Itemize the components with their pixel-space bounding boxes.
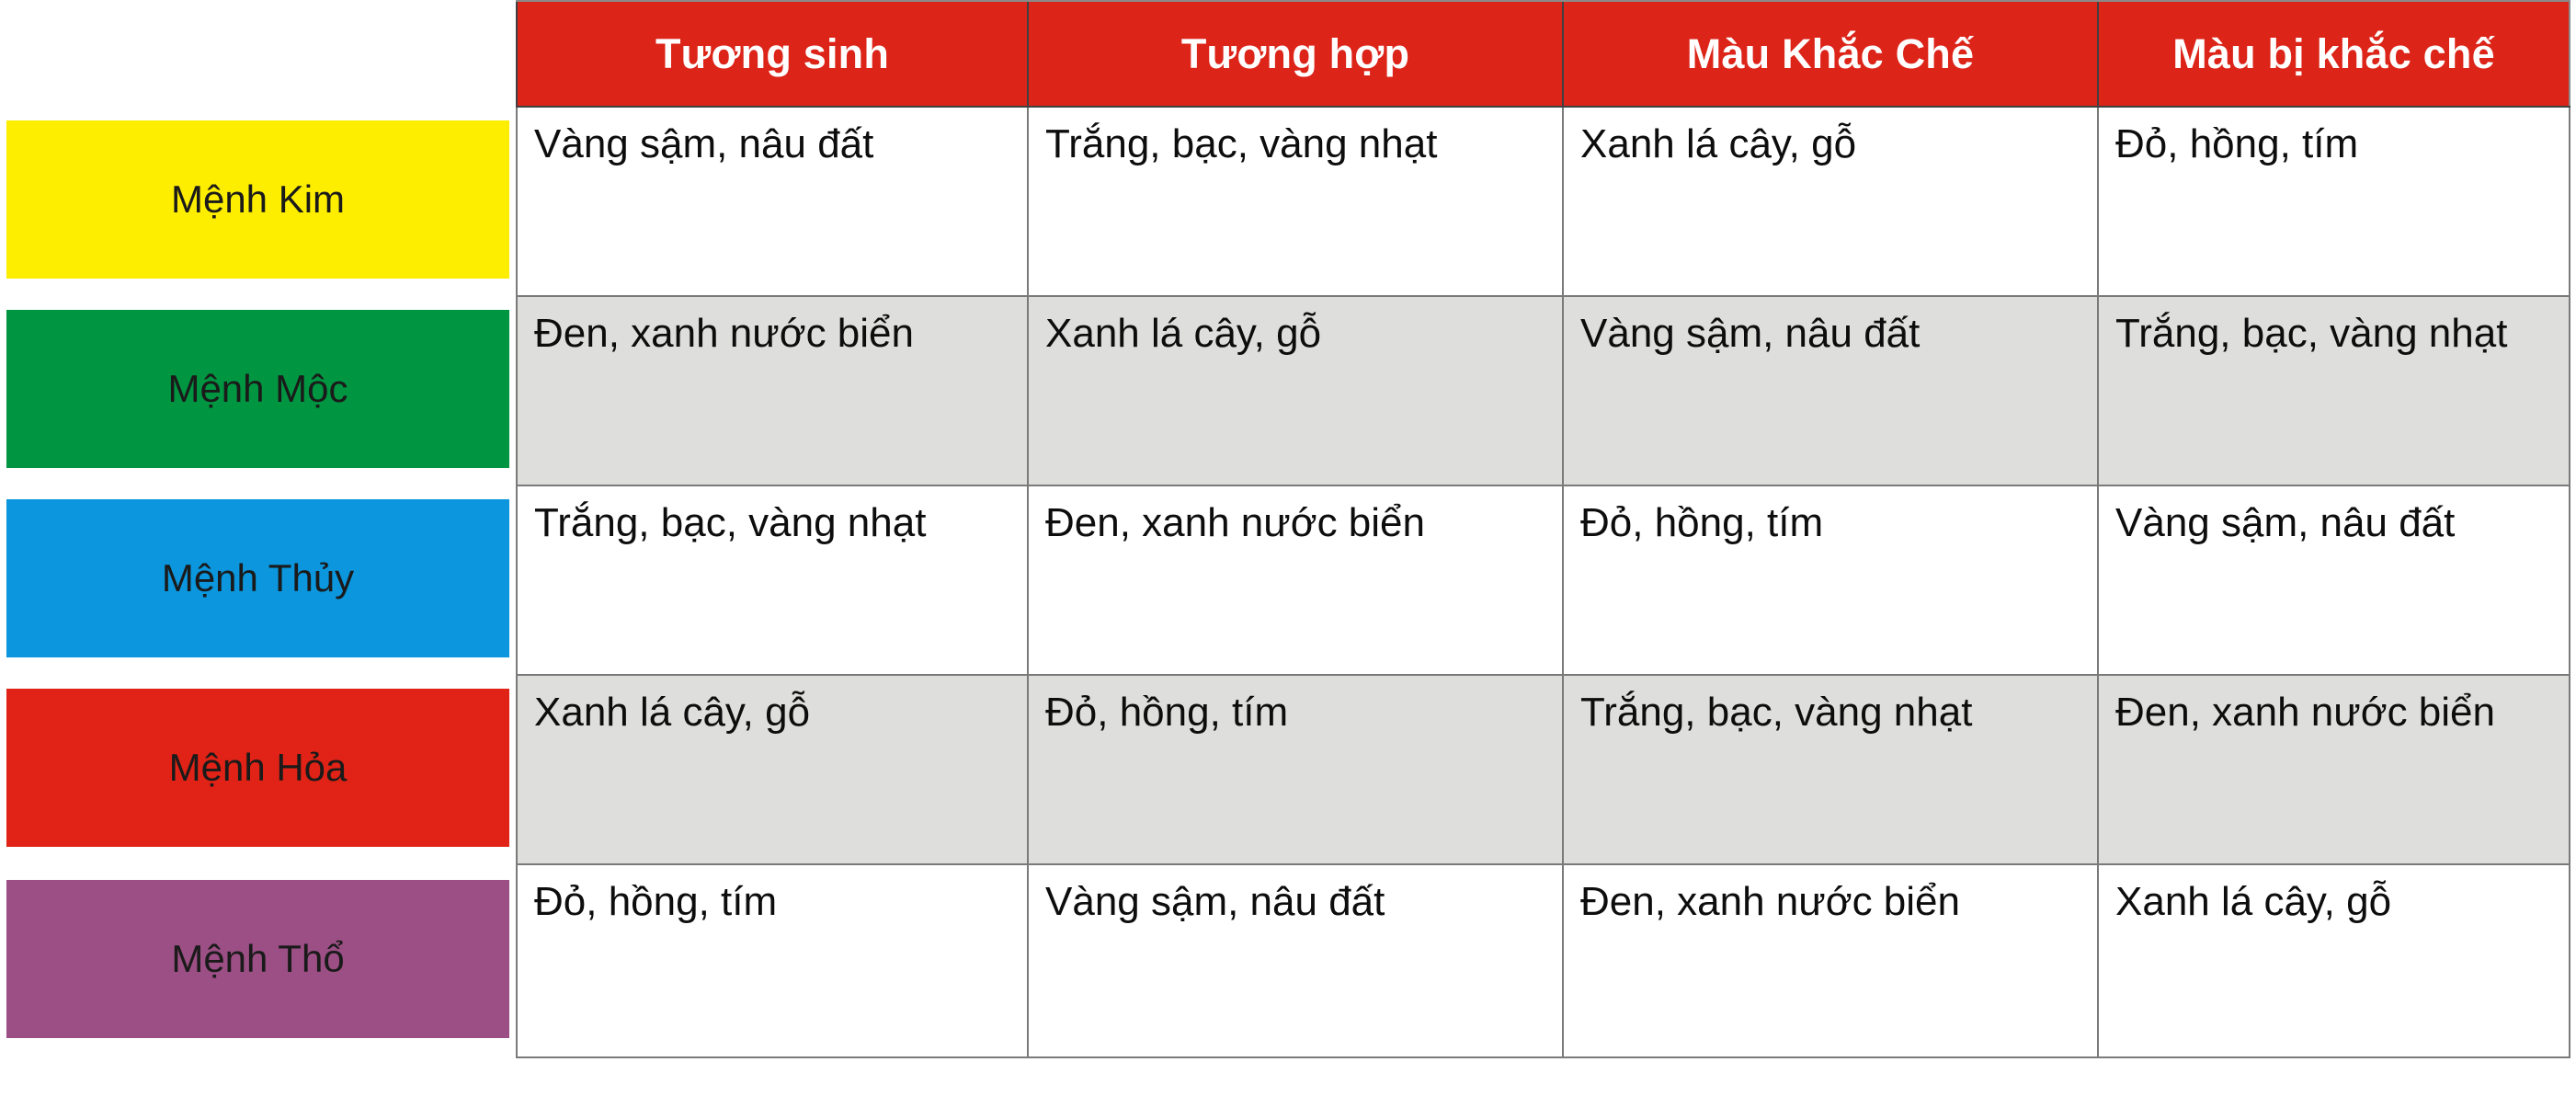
table-row-menh-hoa: Mệnh Hỏa Xanh lá cây, gỗ Đỏ, hồng, tím T…: [0, 675, 2570, 864]
cell-kim-tuong-sinh: Vàng sậm, nâu đất: [517, 107, 1028, 296]
column-header-tuong-sinh[interactable]: Tương sinh: [517, 1, 1028, 107]
cell-tho-tuong-sinh: Đỏ, hồng, tím: [517, 864, 1028, 1057]
cell-thuy-tuong-hop: Đen, xanh nước biển: [1028, 485, 1563, 675]
color-swatch-menh-thuy: Mệnh Thủy: [6, 499, 509, 657]
table-row-menh-tho: Mệnh Thổ Đỏ, hồng, tím Vàng sậm, nâu đất…: [0, 864, 2570, 1057]
element-label-menh-thuy: Mệnh Thủy: [162, 557, 354, 599]
element-label-menh-moc: Mệnh Mộc: [167, 368, 348, 410]
element-cell-menh-moc: Mệnh Mộc: [0, 296, 517, 485]
cell-moc-mau-khac-che: Vàng sậm, nâu đất: [1563, 296, 2098, 485]
cell-kim-mau-bi-khac-che: Đỏ, hồng, tím: [2098, 107, 2570, 296]
cell-tho-mau-bi-khac-che: Xanh lá cây, gỗ: [2098, 864, 2570, 1057]
cell-hoa-tuong-hop: Đỏ, hồng, tím: [1028, 675, 1563, 864]
cell-tho-mau-khac-che: Đen, xanh nước biển: [1563, 864, 2098, 1057]
element-cell-menh-kim: Mệnh Kim: [0, 107, 517, 296]
cell-thuy-mau-bi-khac-che: Vàng sậm, nâu đất: [2098, 485, 2570, 675]
five-elements-color-chart: Tương sinh Tương hợp Màu Khắc Chế Màu bị…: [0, 0, 2576, 1119]
five-elements-table: Tương sinh Tương hợp Màu Khắc Chế Màu bị…: [0, 0, 2570, 1058]
table-row-menh-moc: Mệnh Mộc Đen, xanh nước biển Xanh lá cây…: [0, 296, 2570, 485]
cell-thuy-mau-khac-che: Đỏ, hồng, tím: [1563, 485, 2098, 675]
element-label-menh-tho: Mệnh Thổ: [171, 938, 344, 980]
header-row: Tương sinh Tương hợp Màu Khắc Chế Màu bị…: [0, 1, 2570, 107]
cell-tho-tuong-hop: Vàng sậm, nâu đất: [1028, 864, 1563, 1057]
cell-hoa-mau-bi-khac-che: Đen, xanh nước biển: [2098, 675, 2570, 864]
cell-thuy-tuong-sinh: Trắng, bạc, vàng nhạt: [517, 485, 1028, 675]
color-swatch-menh-moc: Mệnh Mộc: [6, 310, 509, 468]
table-header: Tương sinh Tương hợp Màu Khắc Chế Màu bị…: [0, 1, 2570, 107]
element-label-menh-kim: Mệnh Kim: [171, 178, 345, 221]
cell-hoa-mau-khac-che: Trắng, bạc, vàng nhạt: [1563, 675, 2098, 864]
column-header-mau-bi-khac-che[interactable]: Màu bị khắc chế: [2098, 1, 2570, 107]
cell-kim-mau-khac-che: Xanh lá cây, gỗ: [1563, 107, 2098, 296]
color-swatch-menh-kim: Mệnh Kim: [6, 120, 509, 279]
cell-moc-tuong-sinh: Đen, xanh nước biển: [517, 296, 1028, 485]
table-row-menh-kim: Mệnh Kim Vàng sậm, nâu đất Trắng, bạc, v…: [0, 107, 2570, 296]
cell-kim-tuong-hop: Trắng, bạc, vàng nhạt: [1028, 107, 1563, 296]
cell-moc-mau-bi-khac-che: Trắng, bạc, vàng nhạt: [2098, 296, 2570, 485]
element-cell-menh-thuy: Mệnh Thủy: [0, 485, 517, 675]
color-swatch-menh-tho: Mệnh Thổ: [6, 880, 509, 1038]
element-label-menh-hoa: Mệnh Hỏa: [169, 747, 348, 789]
table-row-menh-thuy: Mệnh Thủy Trắng, bạc, vàng nhạt Đen, xan…: [0, 485, 2570, 675]
corner-cell: [0, 1, 517, 107]
element-cell-menh-hoa: Mệnh Hỏa: [0, 675, 517, 864]
column-header-tuong-hop[interactable]: Tương hợp: [1028, 1, 1563, 107]
color-swatch-menh-hoa: Mệnh Hỏa: [6, 689, 509, 847]
column-header-mau-khac-che[interactable]: Màu Khắc Chế: [1563, 1, 2098, 107]
cell-hoa-tuong-sinh: Xanh lá cây, gỗ: [517, 675, 1028, 864]
table-body: Mệnh Kim Vàng sậm, nâu đất Trắng, bạc, v…: [0, 107, 2570, 1057]
cell-moc-tuong-hop: Xanh lá cây, gỗ: [1028, 296, 1563, 485]
element-cell-menh-tho: Mệnh Thổ: [0, 864, 517, 1057]
